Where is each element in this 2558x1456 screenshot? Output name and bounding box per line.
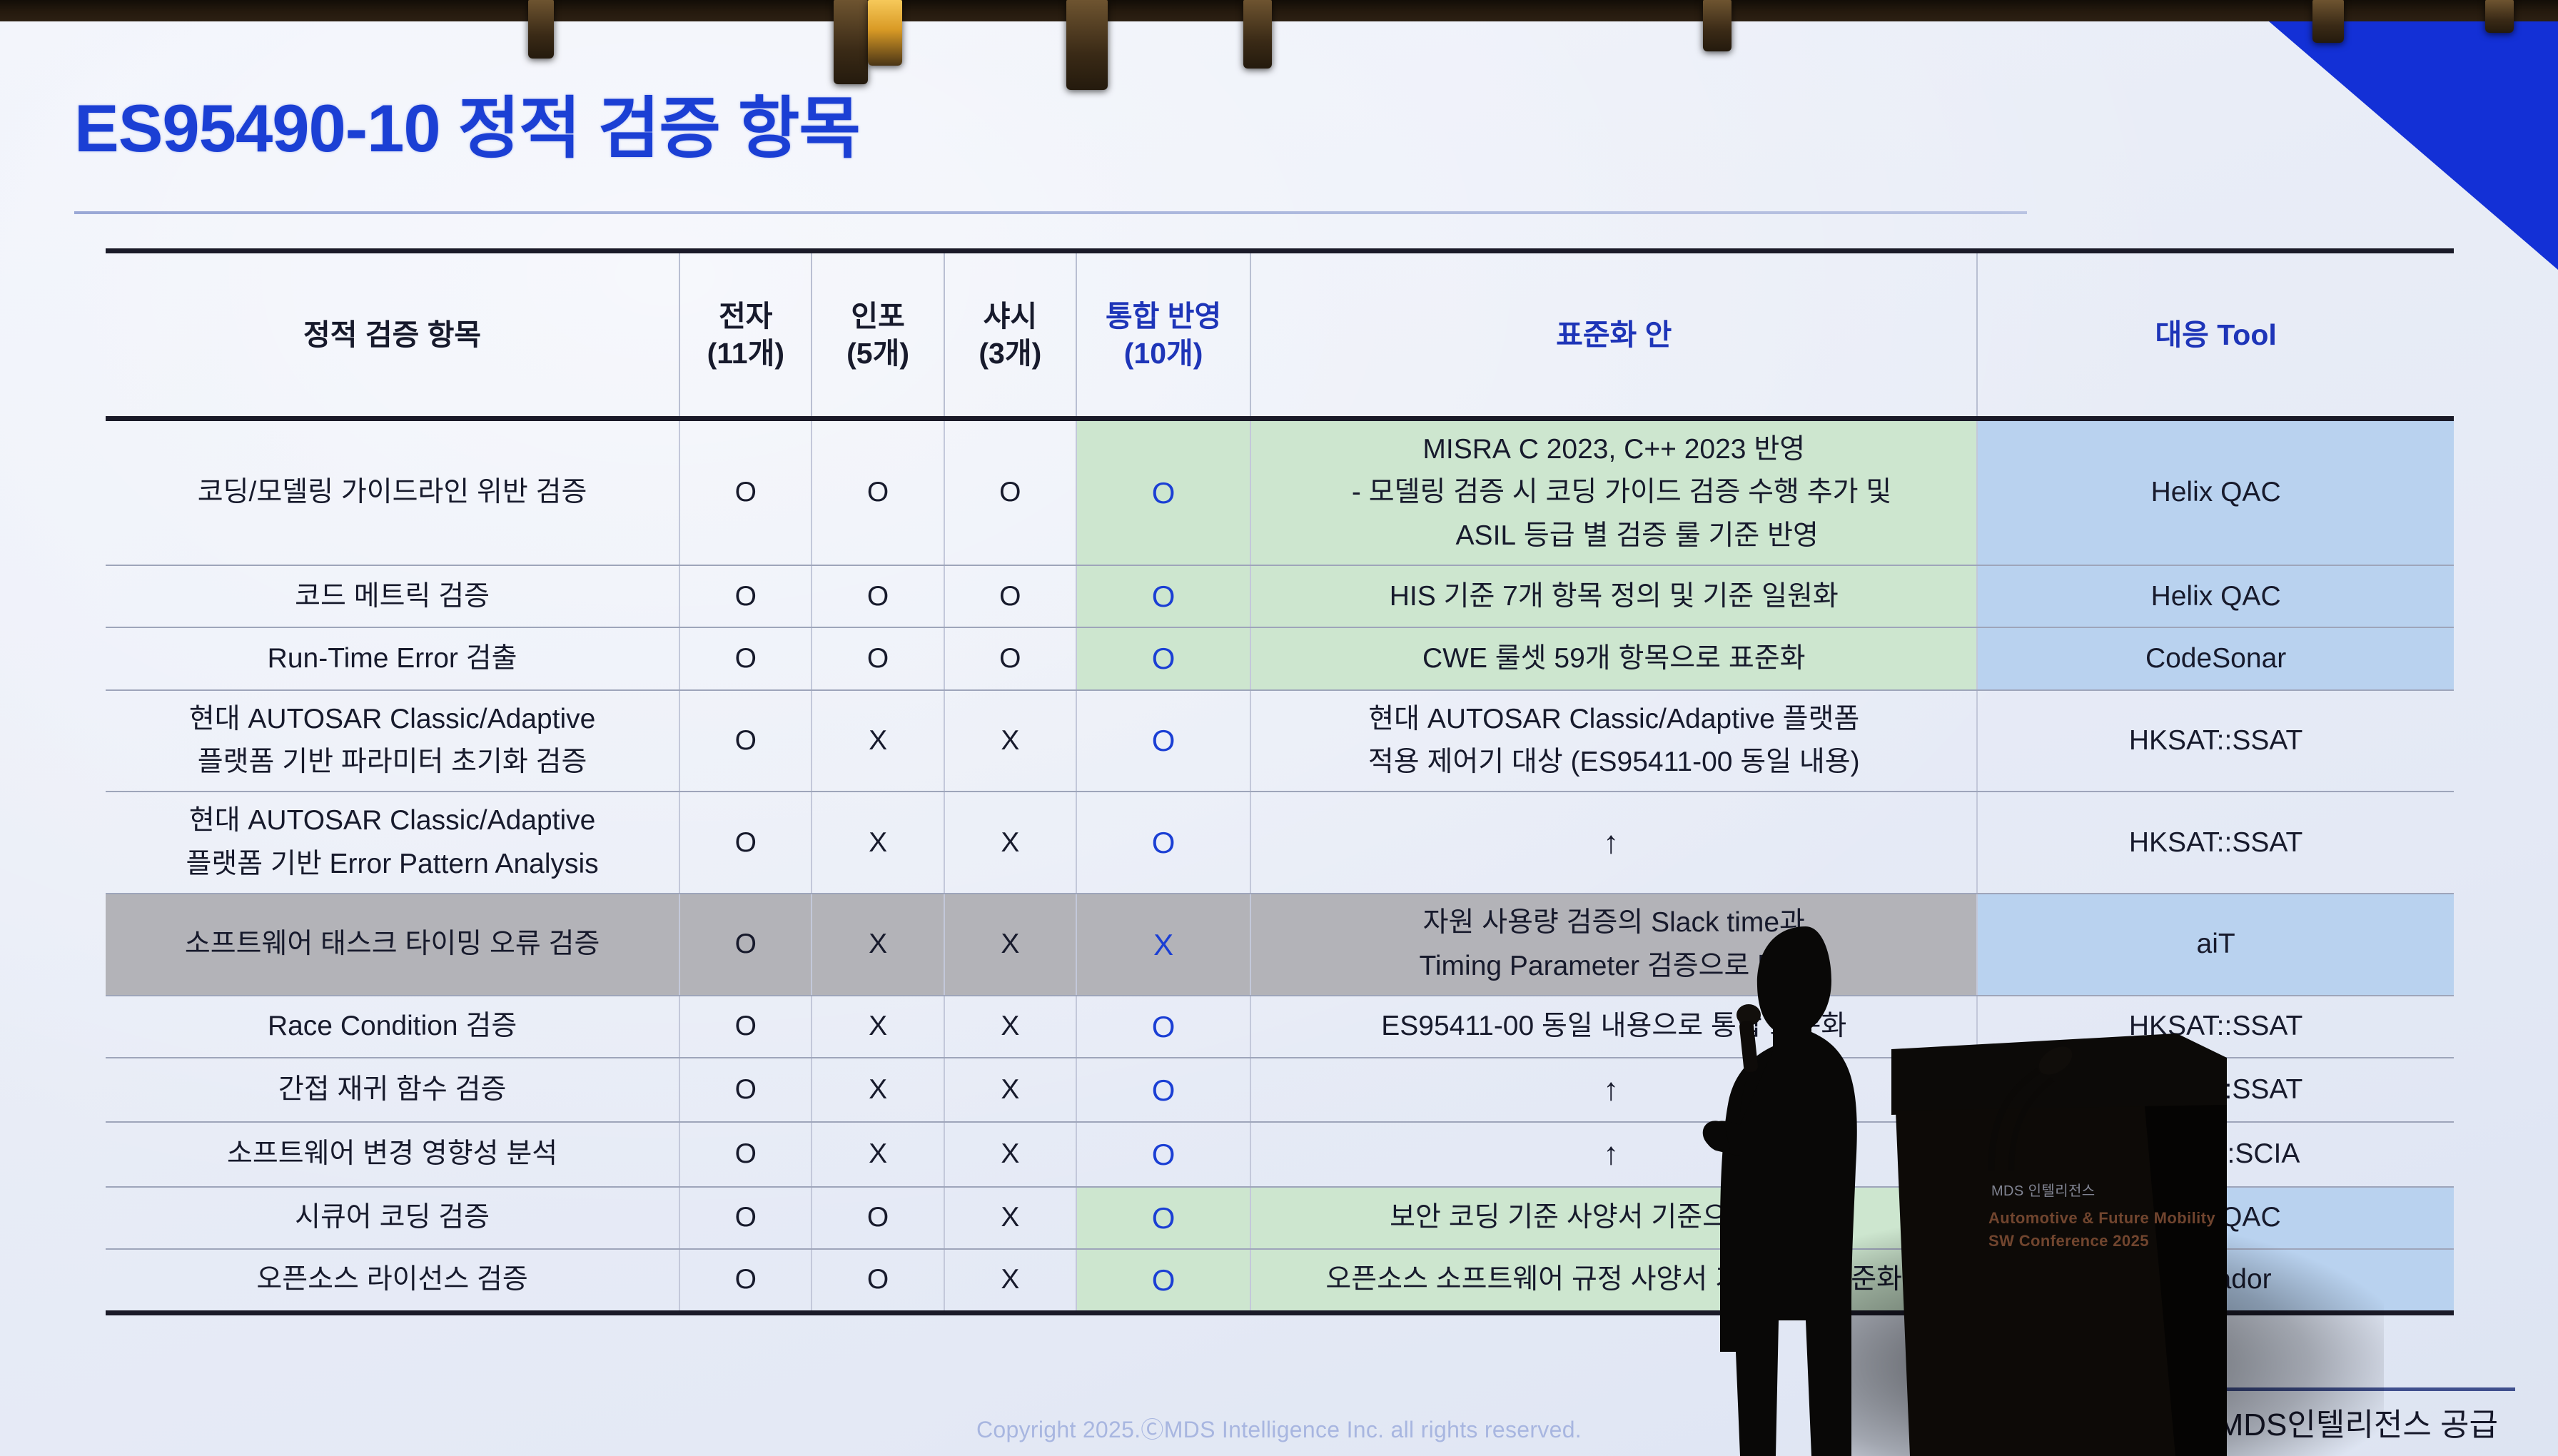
cell-electronics: O (679, 1058, 812, 1122)
cell-infotainment: O (812, 627, 944, 689)
cell-infotainment: O (812, 565, 944, 627)
std-line: ↑ (1603, 1136, 1619, 1171)
handheld-microphone-silhouette (1716, 999, 1780, 1092)
cell-item: 현대 AUTOSAR Classic/Adaptive플랫폼 기반 파라미터 초… (106, 690, 679, 792)
cell-infotainment: O (812, 1249, 944, 1313)
table-header: 정적 검증 항목 전자 (11개) 인포 (5개) 샤시 (3개) 통합 반영 (106, 251, 2454, 419)
std-line: CWE 룰셋 59개 항목으로 표준화 (1422, 643, 1806, 674)
cell-electronics: O (679, 565, 812, 627)
std-line: HIS 기준 7개 항목 정의 및 기준 일원화 (1390, 581, 1839, 612)
cell-electronics: O (679, 1122, 812, 1186)
cell-chassis: X (944, 792, 1076, 894)
cell-chassis: X (944, 1249, 1076, 1313)
cell-electronics: O (679, 627, 812, 689)
cell-integrated: O (1076, 996, 1250, 1058)
std-line: MISRA C 2023, C++ 2023 반영 (1422, 434, 1805, 465)
page-title: ES95490-10 정적 검증 항목 (74, 74, 860, 171)
cell-electronics: O (679, 894, 812, 996)
ceiling-light-7 (2312, 0, 2344, 43)
std-line: ↑ (1603, 1072, 1619, 1107)
cell-infotainment: O (812, 419, 944, 566)
cell-standardization: ↑ (1250, 792, 1977, 894)
cell-integrated: O (1076, 792, 1250, 894)
cell-infotainment: X (812, 1058, 944, 1122)
cell-infotainment: X (812, 792, 944, 894)
ceiling-band (0, 0, 2558, 21)
table-row: 현대 AUTOSAR Classic/Adaptive플랫폼 기반 Error … (106, 792, 2454, 894)
title-divider (74, 211, 2027, 214)
ceiling-light-5 (1243, 0, 1272, 69)
ceiling-light-8 (2485, 0, 2514, 33)
table-row: 코드 메트릭 검증OOOOHIS 기준 7개 항목 정의 및 기준 일원화Hel… (106, 565, 2454, 627)
footer-supplier: MDS인텔리전스 공급 (2218, 1399, 2498, 1445)
th-integrated: 통합 반영 (10개) (1076, 251, 1250, 419)
cell-electronics: O (679, 792, 812, 894)
table-row: 코딩/모델링 가이드라인 위반 검증OOOOMISRA C 2023, C++ … (106, 419, 2454, 566)
ceiling-light-1 (528, 0, 554, 59)
podium-brand-text: MDS 인텔리전스 (1991, 1182, 2096, 1201)
th-integrated-count: (10개) (1124, 337, 1203, 370)
cell-item: 시큐어 코딩 검증 (106, 1187, 679, 1249)
cell-integrated: O (1076, 627, 1250, 689)
cell-item: 소프트웨어 태스크 타이밍 오류 검증 (106, 894, 679, 996)
table-row: 소프트웨어 태스크 타이밍 오류 검증OXXX자원 사용량 검증의 Slack … (106, 894, 2454, 996)
cell-electronics: O (679, 419, 812, 566)
table-row: Run-Time Error 검출OOOOCWE 룰셋 59개 항목으로 표준화… (106, 627, 2454, 689)
cell-tool: HKSAT::SSAT (1977, 792, 2454, 894)
podium-microphone-silhouette (1970, 1028, 2098, 1171)
row-item-line2: 플랫폼 기반 Error Pattern Analysis (186, 849, 598, 879)
cell-chassis: X (944, 690, 1076, 792)
th-infotainment-label: 인포 (851, 300, 904, 333)
cell-item: 간접 재귀 함수 검증 (106, 1058, 679, 1122)
cell-standardization: 현대 AUTOSAR Classic/Adaptive 플랫폼적용 제어기 대상… (1250, 690, 1977, 792)
cell-item: 오픈소스 라이선스 검증 (106, 1249, 679, 1313)
corner-triangle-decoration (2244, 0, 2558, 270)
podium-event-line1: Automotive & Future Mobility (1988, 1208, 2215, 1229)
cell-electronics: O (679, 690, 812, 792)
cell-item: 코딩/모델링 가이드라인 위반 검증 (106, 419, 679, 566)
cell-integrated: O (1076, 690, 1250, 792)
th-chassis: 샤시 (3개) (944, 251, 1076, 419)
table-row: 현대 AUTOSAR Classic/Adaptive플랫폼 기반 파라미터 초… (106, 690, 2454, 792)
table-header-row: 정적 검증 항목 전자 (11개) 인포 (5개) 샤시 (3개) 통합 반영 (106, 251, 2454, 419)
cell-chassis: X (944, 996, 1076, 1058)
cell-chassis: X (944, 1187, 1076, 1249)
cell-integrated: O (1076, 1249, 1250, 1313)
cell-standardization: HIS 기준 7개 항목 정의 및 기준 일원화 (1250, 565, 1977, 627)
cell-infotainment: X (812, 690, 944, 792)
cell-chassis: O (944, 565, 1076, 627)
cell-chassis: X (944, 1058, 1076, 1122)
cell-chassis: O (944, 627, 1076, 689)
ceiling-light-6 (1703, 0, 1732, 51)
cell-chassis: X (944, 1122, 1076, 1186)
cell-tool: Helix QAC (1977, 565, 2454, 627)
th-integrated-label: 통합 반영 (1106, 300, 1221, 333)
cell-item: Run-Time Error 검출 (106, 627, 679, 689)
cell-tool: CodeSonar (1977, 627, 2454, 689)
cell-integrated: O (1076, 1187, 1250, 1249)
std-line: 현대 AUTOSAR Classic/Adaptive 플랫폼 (1368, 704, 1859, 734)
cell-electronics: O (679, 996, 812, 1058)
cell-standardization: CWE 룰셋 59개 항목으로 표준화 (1250, 627, 1977, 689)
th-infotainment-count: (5개) (846, 337, 909, 370)
cell-item: 코드 메트릭 검증 (106, 565, 679, 627)
std-line: ↑ (1603, 825, 1619, 860)
podium-event-line2: SW Conference 2025 (1988, 1230, 2149, 1252)
cell-standardization: MISRA C 2023, C++ 2023 반영 - 모델링 검증 시 코딩 … (1250, 419, 1977, 566)
row-item-line2: 플랫폼 기반 파라미터 초기화 검증 (198, 747, 587, 777)
cell-tool: Helix QAC (1977, 419, 2454, 566)
cell-integrated: O (1076, 1122, 1250, 1186)
cell-integrated: O (1076, 419, 1250, 566)
cell-infotainment: O (812, 1187, 944, 1249)
cell-infotainment: X (812, 1122, 944, 1186)
std-line: - 모델링 검증 시 코딩 가이드 검증 수행 추가 및 (1336, 477, 1891, 507)
photo-scene: ES95490-10 정적 검증 항목 정적 검증 항목 전자 (11개) 인포… (0, 0, 2558, 1456)
th-infotainment: 인포 (5개) (812, 251, 944, 419)
cell-integrated: X (1076, 894, 1250, 996)
cell-tool: HKSAT::SSAT (1977, 690, 2454, 792)
cell-item: Race Condition 검증 (106, 996, 679, 1058)
cell-integrated: O (1076, 1058, 1250, 1122)
cell-chassis: O (944, 419, 1076, 566)
th-electronics-label: 전자 (719, 300, 772, 333)
cell-infotainment: X (812, 894, 944, 996)
cell-item: 소프트웨어 변경 영향성 분석 (106, 1122, 679, 1186)
cell-electronics: O (679, 1187, 812, 1249)
row-item-line1: 현대 AUTOSAR Classic/Adaptive (189, 805, 596, 836)
cell-electronics: O (679, 1249, 812, 1313)
ceiling-light-2 (834, 0, 868, 84)
th-tool: 대응 Tool (1977, 251, 2454, 419)
cell-integrated: O (1076, 565, 1250, 627)
cell-infotainment: X (812, 996, 944, 1058)
cell-item: 현대 AUTOSAR Classic/Adaptive플랫폼 기반 Error … (106, 792, 679, 894)
std-line: ASIL 등급 별 검증 룰 기준 반영 (1410, 520, 1819, 551)
th-chassis-count: (3개) (979, 337, 1041, 370)
th-chassis-label: 샤시 (984, 300, 1037, 333)
th-electronics: 전자 (11개) (679, 251, 812, 419)
cell-chassis: X (944, 894, 1076, 996)
th-standardization: 표준화 안 (1250, 251, 1977, 419)
th-item: 정적 검증 항목 (106, 251, 679, 419)
ceiling-light-3-lit (868, 0, 902, 66)
ceiling-light-4 (1066, 0, 1108, 90)
th-electronics-count: (11개) (707, 337, 784, 370)
cell-tool: aiT (1977, 894, 2454, 996)
row-item-line1: 현대 AUTOSAR Classic/Adaptive (189, 704, 596, 734)
std-line: 적용 제어기 대상 (ES95411-00 동일 내용) (1368, 747, 1860, 777)
